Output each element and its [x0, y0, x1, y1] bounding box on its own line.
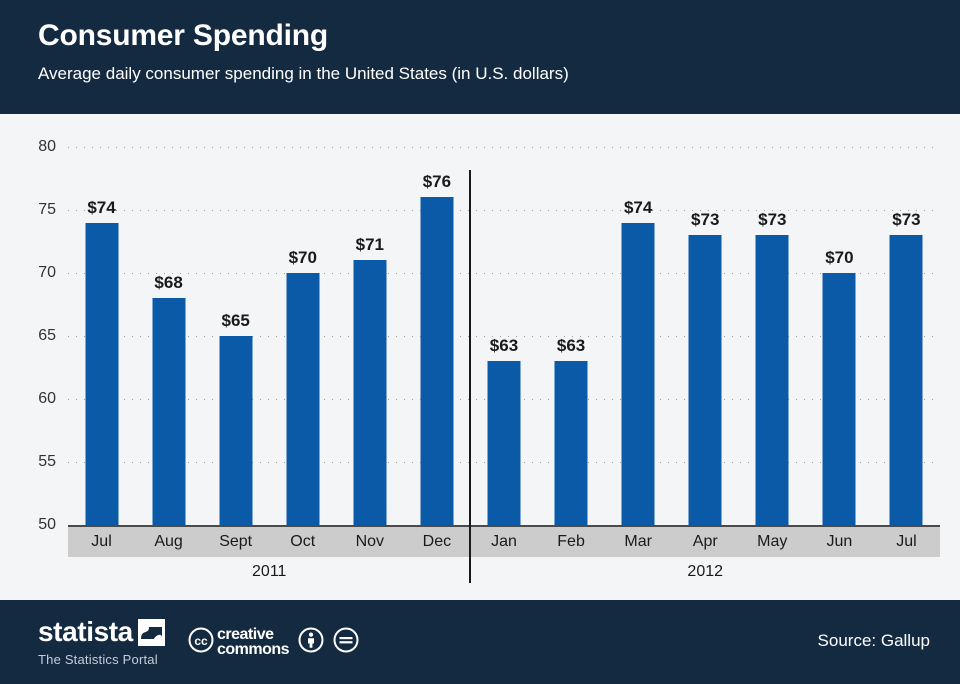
bar-slot: $73 [672, 114, 739, 525]
month-label: Jun [806, 527, 873, 557]
cc-wordmark-line2: commons [217, 643, 289, 657]
y-axis-tick-label: 55 [12, 454, 56, 470]
bar[interactable] [823, 273, 856, 525]
year-divider-line [469, 170, 471, 583]
month-label: Feb [538, 527, 605, 557]
y-axis-tick-label: 60 [12, 391, 56, 407]
y-axis-tick-label: 50 [12, 517, 56, 533]
footer: statista The Statistics Portal cc creati… [0, 600, 960, 684]
bar-slot: $73 [873, 114, 940, 525]
month-label: Jul [873, 527, 940, 557]
bar[interactable] [286, 273, 319, 525]
bar-value-label: $74 [624, 199, 652, 216]
bar-slot: $63 [470, 114, 537, 525]
y-axis-tick-label: 75 [12, 202, 56, 218]
bar-slot: $68 [135, 114, 202, 525]
creative-commons-block[interactable]: cc creative commons [188, 627, 359, 658]
cc-by-person-icon [298, 627, 324, 658]
bar-value-label: $63 [490, 337, 518, 354]
y-axis-tick-label: 65 [12, 328, 56, 344]
year-label: 2011 [68, 563, 470, 581]
cc-wordmark: creative commons [217, 628, 289, 657]
infographic-root: Consumer Spending Average daily consumer… [0, 0, 960, 684]
month-label: Oct [269, 527, 336, 557]
bar[interactable] [555, 361, 588, 525]
month-label: Aug [135, 527, 202, 557]
month-label: Jul [68, 527, 135, 557]
bar[interactable] [420, 197, 453, 525]
month-label: Dec [403, 527, 470, 557]
bar-value-label: $73 [758, 211, 786, 228]
source-label: Source: Gallup [818, 631, 930, 651]
bar[interactable] [487, 361, 520, 525]
plot-bars: $74$68$65$70$71$76$63$63$74$73$73$70$73 [68, 114, 940, 525]
y-axis-tick-label: 70 [12, 265, 56, 281]
page-subtitle: Average daily consumer spending in the U… [38, 65, 960, 84]
chart-area: 50556065707580 $74$68$65$70$71$76$63$63$… [0, 114, 960, 600]
svg-text:cc: cc [194, 634, 208, 648]
bar[interactable] [622, 223, 655, 525]
bar-value-label: $76 [423, 173, 451, 190]
month-label: Mar [605, 527, 672, 557]
page-title: Consumer Spending [38, 20, 960, 52]
bar-slot: $73 [739, 114, 806, 525]
statista-logo-mark-icon [138, 619, 165, 646]
bar-slot: $76 [403, 114, 470, 525]
bar-value-label: $73 [691, 211, 719, 228]
bar-value-label: $70 [825, 249, 853, 266]
bar-slot: $71 [336, 114, 403, 525]
bar-value-label: $68 [154, 274, 182, 291]
bar-slot: $74 [68, 114, 135, 525]
bar[interactable] [85, 223, 118, 525]
bar-value-label: $70 [289, 249, 317, 266]
brand-name: statista [38, 618, 133, 646]
month-label: Nov [336, 527, 403, 557]
month-label: Apr [672, 527, 739, 557]
bar-slot: $65 [202, 114, 269, 525]
brand-top-row: statista [38, 618, 165, 646]
bar-slot: $63 [538, 114, 605, 525]
bar[interactable] [353, 260, 386, 525]
bar[interactable] [689, 235, 722, 525]
bar[interactable] [890, 235, 923, 525]
bar-value-label: $71 [356, 236, 384, 253]
cc-nd-equals-icon [333, 627, 359, 658]
month-label: Jan [470, 527, 537, 557]
bar[interactable] [152, 298, 185, 525]
bar-value-label: $63 [557, 337, 585, 354]
cc-circle-icon: cc [188, 627, 214, 658]
bar[interactable] [219, 336, 252, 525]
bar-slot: $70 [269, 114, 336, 525]
bar-slot: $74 [605, 114, 672, 525]
bar[interactable] [756, 235, 789, 525]
y-axis-tick-label: 80 [12, 139, 56, 155]
brand-tagline: The Statistics Portal [38, 652, 165, 667]
bar-value-label: $73 [892, 211, 920, 228]
month-label: Sept [202, 527, 269, 557]
bar-value-label: $65 [221, 312, 249, 329]
month-label: May [739, 527, 806, 557]
header: Consumer Spending Average daily consumer… [0, 0, 960, 114]
year-label: 2012 [470, 563, 940, 581]
bar-value-label: $74 [87, 199, 115, 216]
bar-slot: $70 [806, 114, 873, 525]
statista-brand[interactable]: statista The Statistics Portal [38, 618, 165, 667]
